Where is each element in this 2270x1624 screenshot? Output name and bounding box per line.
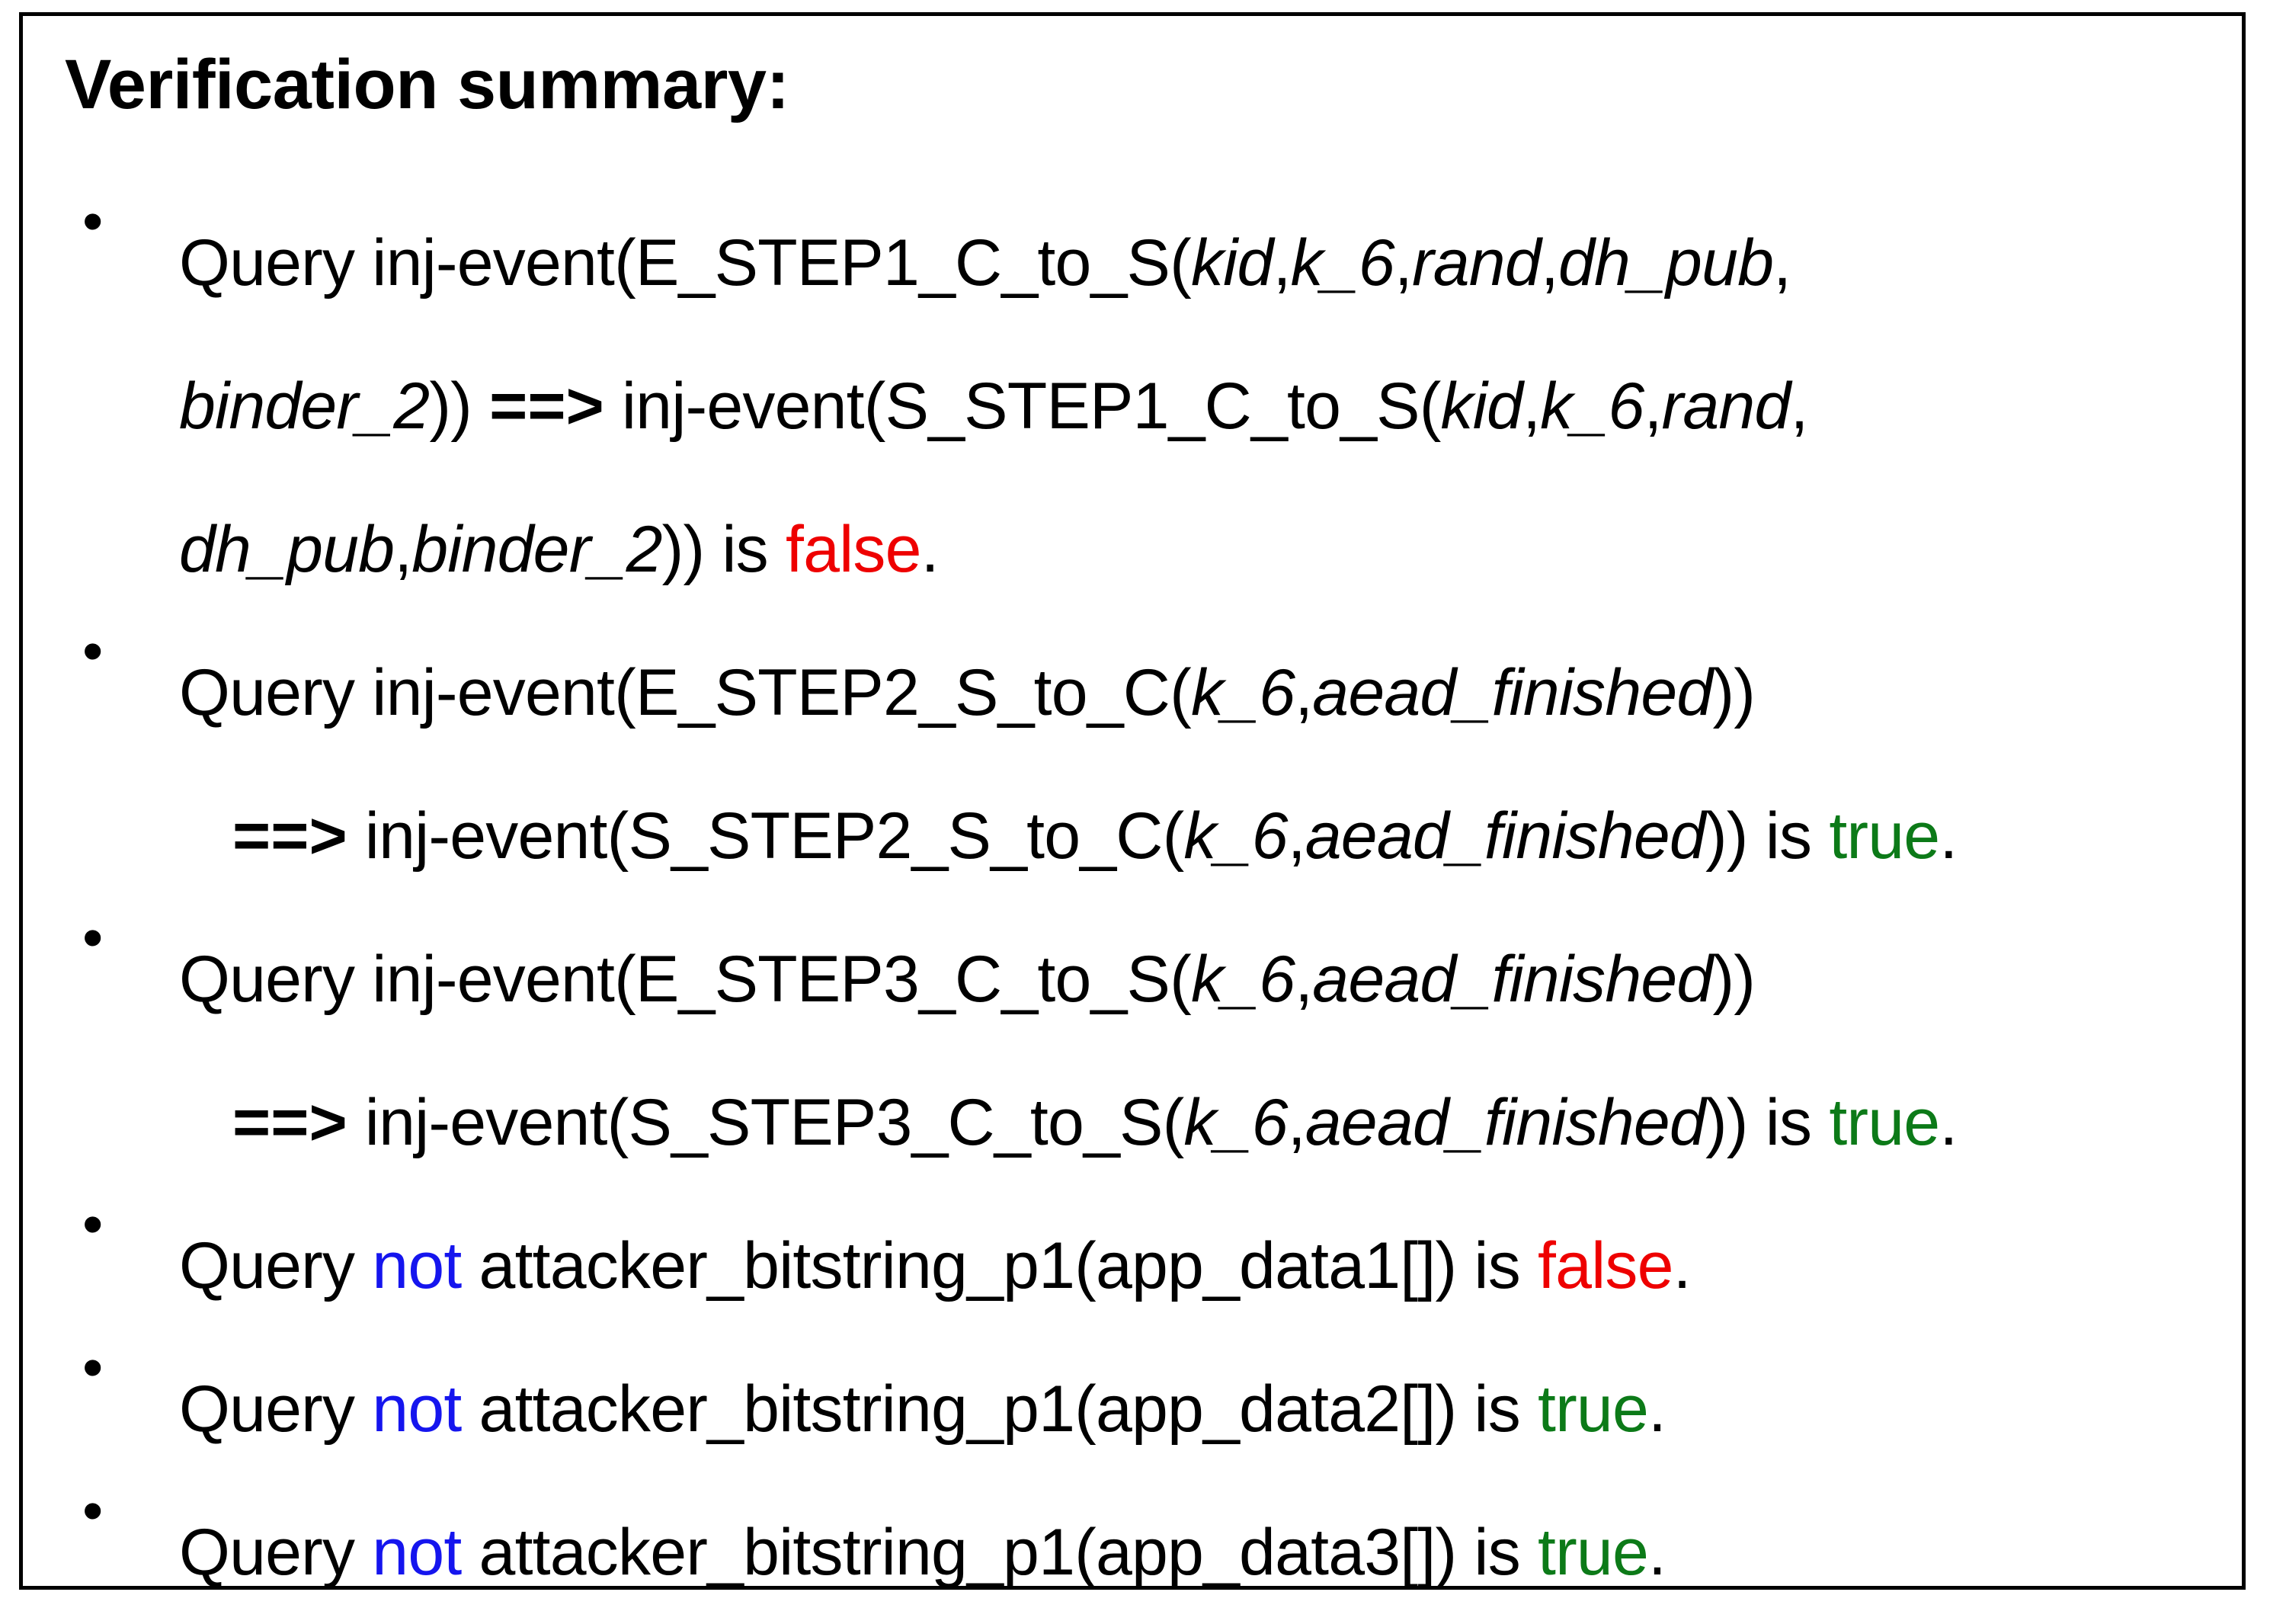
query-line: dh_pub,binder_2)) is false. xyxy=(179,478,2242,621)
bullet-icon: • xyxy=(82,908,105,967)
list-item: •Query inj-event(E_STEP1_C_to_S(kid,k_6,… xyxy=(23,191,2242,621)
list-item: •Query not attacker_bitstring_p1(app_dat… xyxy=(23,1337,2242,1481)
variable-name: binder_2 xyxy=(411,513,661,586)
query-line: Query not attacker_bitstring_p1(app_data… xyxy=(179,1337,2242,1481)
list-item: •Query not attacker_bitstring_p1(app_dat… xyxy=(23,1194,2242,1337)
query-text: , xyxy=(1773,226,1791,299)
variable-name: aead_finished xyxy=(1312,656,1712,729)
query-text: . xyxy=(921,513,939,586)
variable-name: k_6 xyxy=(1183,799,1287,873)
query-text: inj-event(S_STEP2_S_to_C( xyxy=(347,799,1184,873)
variable-name: rand xyxy=(1412,226,1541,299)
variable-name: dh_pub xyxy=(179,513,394,586)
variable-name: k_6 xyxy=(1540,370,1644,443)
query-text: , xyxy=(1288,1086,1305,1159)
variable-name: k_6 xyxy=(1183,1086,1287,1159)
query-text: . xyxy=(1673,1229,1691,1302)
query-text: )) is xyxy=(1705,799,1829,873)
result-false: false xyxy=(786,513,921,586)
variable-name: dh_pub xyxy=(1558,226,1773,299)
variable-name: kid xyxy=(1191,226,1273,299)
keyword-not: not xyxy=(372,1373,461,1446)
query-text: )) xyxy=(1712,943,1755,1016)
query-text: attacker_bitstring_p1(app_data3[]) is xyxy=(461,1516,1538,1589)
variable-name: k_6 xyxy=(1191,656,1295,729)
query-text: , xyxy=(1295,943,1312,1016)
query-text: , xyxy=(1295,656,1312,729)
result-true: true xyxy=(1538,1373,1648,1446)
result-false: false xyxy=(1538,1229,1673,1302)
page-title: Verification summary: xyxy=(65,45,789,125)
query-text: . xyxy=(1939,1086,1957,1159)
query-text: )) xyxy=(1712,656,1755,729)
query-text: Query xyxy=(179,1516,372,1589)
implication-arrow: ==> xyxy=(489,370,604,443)
list-item: •Query inj-event(E_STEP3_C_to_S(k_6,aead… xyxy=(23,908,2242,1194)
variable-name: aead_finished xyxy=(1305,1086,1705,1159)
query-text: , xyxy=(1644,370,1661,443)
variable-name: kid xyxy=(1441,370,1523,443)
query-text: , xyxy=(1541,226,1558,299)
query-text: , xyxy=(1522,370,1540,443)
query-line: Query inj-event(E_STEP2_S_to_C(k_6,aead_… xyxy=(179,621,2242,764)
variable-name: binder_2 xyxy=(179,370,429,443)
bullet-icon: • xyxy=(82,191,105,251)
variable-name: aead_finished xyxy=(1312,943,1712,1016)
query-line: ==> inj-event(S_STEP2_S_to_C(k_6,aead_fi… xyxy=(179,764,2242,908)
query-text: , xyxy=(1394,226,1412,299)
bullet-icon: • xyxy=(82,1194,105,1254)
result-true: true xyxy=(1829,1086,1939,1159)
query-result-list: •Query inj-event(E_STEP1_C_to_S(kid,k_6,… xyxy=(23,191,2242,1624)
query-text: Query inj-event(E_STEP3_C_to_S( xyxy=(179,943,1191,1016)
list-item: •Query not attacker_bitstring_p1(app_dat… xyxy=(23,1481,2242,1624)
query-line: binder_2)) ==> inj-event(S_STEP1_C_to_S(… xyxy=(179,335,2242,478)
query-text: , xyxy=(394,513,411,586)
query-text: Query inj-event(E_STEP1_C_to_S( xyxy=(179,226,1191,299)
query-line: Query not attacker_bitstring_p1(app_data… xyxy=(179,1481,2242,1624)
query-text: Query inj-event(E_STEP2_S_to_C( xyxy=(179,656,1191,729)
implication-arrow: ==> xyxy=(232,799,347,873)
query-text: inj-event(S_STEP3_C_to_S( xyxy=(347,1086,1184,1159)
query-line: Query inj-event(E_STEP3_C_to_S(k_6,aead_… xyxy=(179,908,2242,1051)
bullet-icon: • xyxy=(82,1481,105,1540)
query-text: . xyxy=(1648,1373,1666,1446)
variable-name: k_6 xyxy=(1291,226,1394,299)
verification-summary-figure: Verification summary: •Query inj-event(E… xyxy=(19,12,2246,1590)
query-text: )) is xyxy=(662,513,786,586)
result-true: true xyxy=(1538,1516,1648,1589)
query-text: , xyxy=(1288,799,1305,873)
bullet-icon: • xyxy=(82,621,105,681)
variable-name: k_6 xyxy=(1191,943,1295,1016)
query-text: , xyxy=(1273,226,1290,299)
query-text: Query xyxy=(179,1373,372,1446)
query-text: attacker_bitstring_p1(app_data1[]) is xyxy=(461,1229,1538,1302)
keyword-not: not xyxy=(372,1516,461,1589)
query-text: attacker_bitstring_p1(app_data2[]) is xyxy=(461,1373,1538,1446)
query-line: Query inj-event(E_STEP1_C_to_S(kid,k_6,r… xyxy=(179,191,2242,335)
result-true: true xyxy=(1829,799,1939,873)
list-item: •Query inj-event(E_STEP2_S_to_C(k_6,aead… xyxy=(23,621,2242,908)
keyword-not: not xyxy=(372,1229,461,1302)
bullet-icon: • xyxy=(82,1337,105,1397)
query-text: )) is xyxy=(1705,1086,1829,1159)
implication-arrow: ==> xyxy=(232,1086,347,1159)
variable-name: aead_finished xyxy=(1305,799,1705,873)
query-line: Query not attacker_bitstring_p1(app_data… xyxy=(179,1194,2242,1337)
query-line: ==> inj-event(S_STEP3_C_to_S(k_6,aead_fi… xyxy=(179,1051,2242,1194)
query-text: . xyxy=(1939,799,1957,873)
query-text: )) xyxy=(429,370,489,443)
query-text: inj-event(S_STEP1_C_to_S( xyxy=(604,370,1441,443)
query-text: . xyxy=(1648,1516,1666,1589)
variable-name: rand xyxy=(1662,370,1791,443)
query-text: , xyxy=(1790,370,1807,443)
query-text: Query xyxy=(179,1229,372,1302)
